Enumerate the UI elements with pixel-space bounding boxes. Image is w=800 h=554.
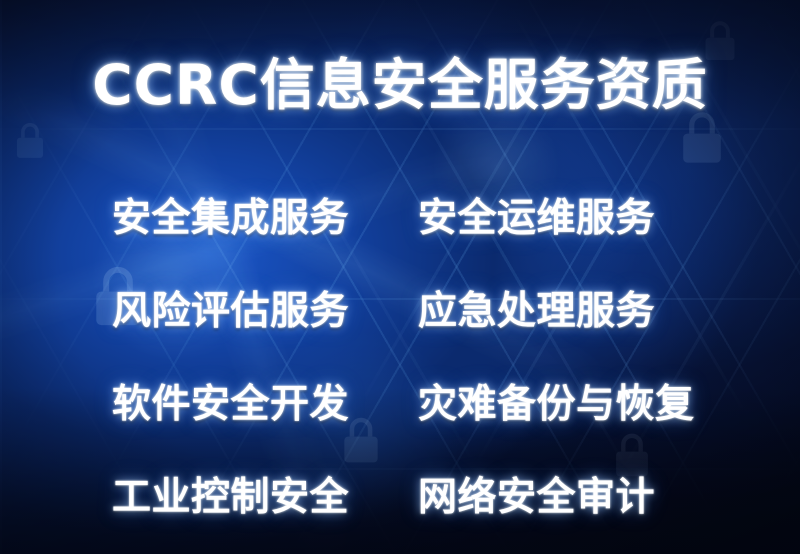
service-label-disaster-backup-recovery: 灾难备份与恢复 [418, 385, 695, 424]
list-item: 工业控制安全 [94, 451, 384, 544]
service-label-industrial-control-security: 工业控制安全 [112, 478, 349, 517]
page-title: CCRC信息安全服务资质 [0, 58, 800, 113]
list-item: 安全运维服务 [406, 172, 706, 265]
list-item: 网络安全审计 [406, 451, 706, 544]
service-label-emergency-response: 应急处理服务 [418, 292, 655, 331]
service-label-secure-software-development: 软件安全开发 [112, 385, 349, 424]
list-item: 风险评估服务 [94, 265, 384, 358]
service-label-security-integration: 安全集成服务 [112, 199, 349, 238]
service-label-risk-assessment: 风险评估服务 [112, 292, 349, 331]
padlock-watermark-far-left [12, 120, 48, 161]
list-item: 软件安全开发 [94, 358, 384, 451]
service-label-security-operations: 安全运维服务 [418, 199, 655, 238]
ccrc-qualification-poster: CCRC信息安全服务资质 安全集成服务 安全运维服务 风险评估服务 应急处理服务… [0, 0, 800, 554]
service-list: 安全集成服务 安全运维服务 风险评估服务 应急处理服务 软件安全开发 灾难备份与… [0, 172, 800, 544]
list-item: 应急处理服务 [406, 265, 706, 358]
service-label-network-security-audit: 网络安全审计 [418, 478, 655, 517]
list-item: 灾难备份与恢复 [406, 358, 706, 451]
list-item: 安全集成服务 [94, 172, 384, 265]
